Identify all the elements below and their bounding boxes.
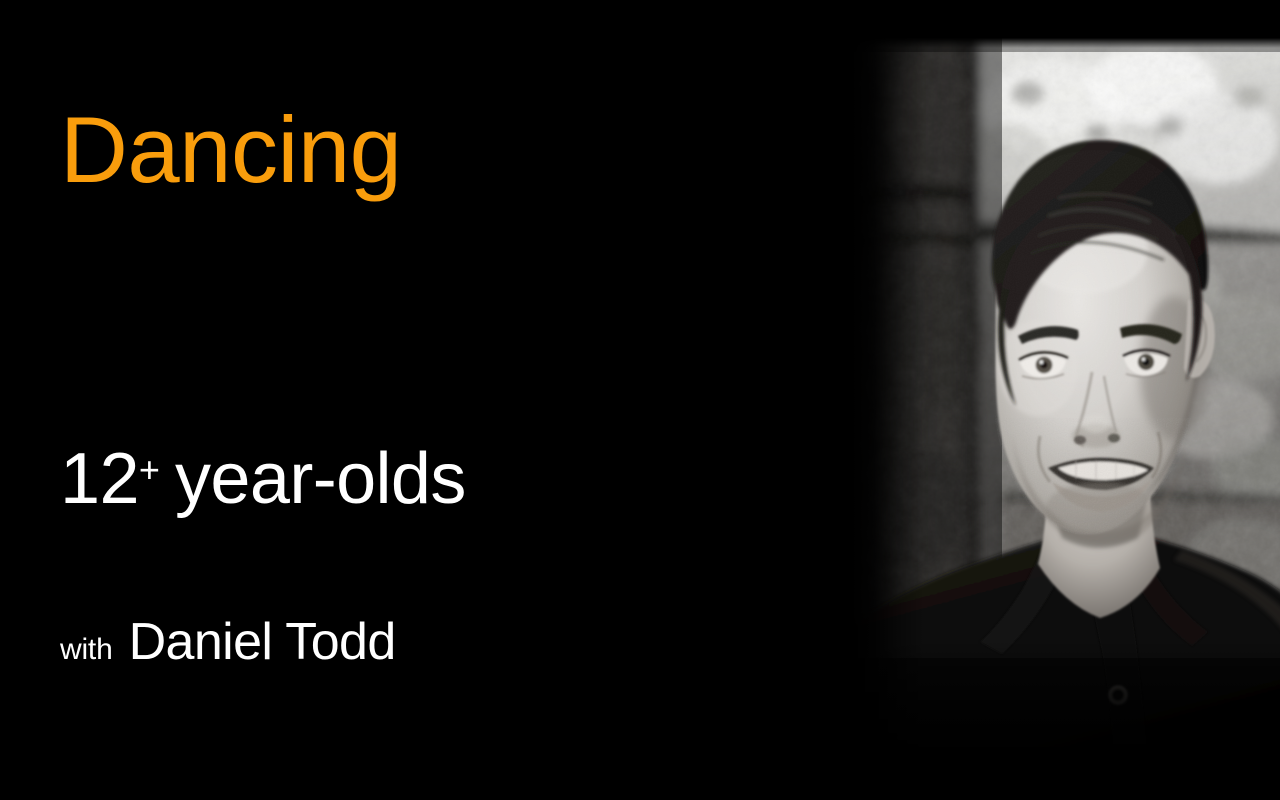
- age-group-number: 12: [60, 439, 139, 519]
- presenter-name: Daniel Todd: [129, 616, 396, 668]
- presenter-line: with Daniel Todd: [60, 616, 396, 668]
- presenter-photo: [852, 38, 1280, 760]
- age-group-plus-superscript: +: [139, 449, 160, 490]
- age-group-suffix: year-olds: [175, 439, 466, 519]
- presenter-portrait-image: [852, 38, 1280, 760]
- course-title-slide: Dancing 12+year-olds with Daniel Todd: [0, 0, 1280, 800]
- presenter-preposition: with: [60, 635, 113, 665]
- text-column: Dancing 12+year-olds with Daniel Todd: [0, 0, 852, 800]
- page-title: Dancing: [60, 103, 401, 197]
- age-group-line: 12+year-olds: [60, 443, 466, 515]
